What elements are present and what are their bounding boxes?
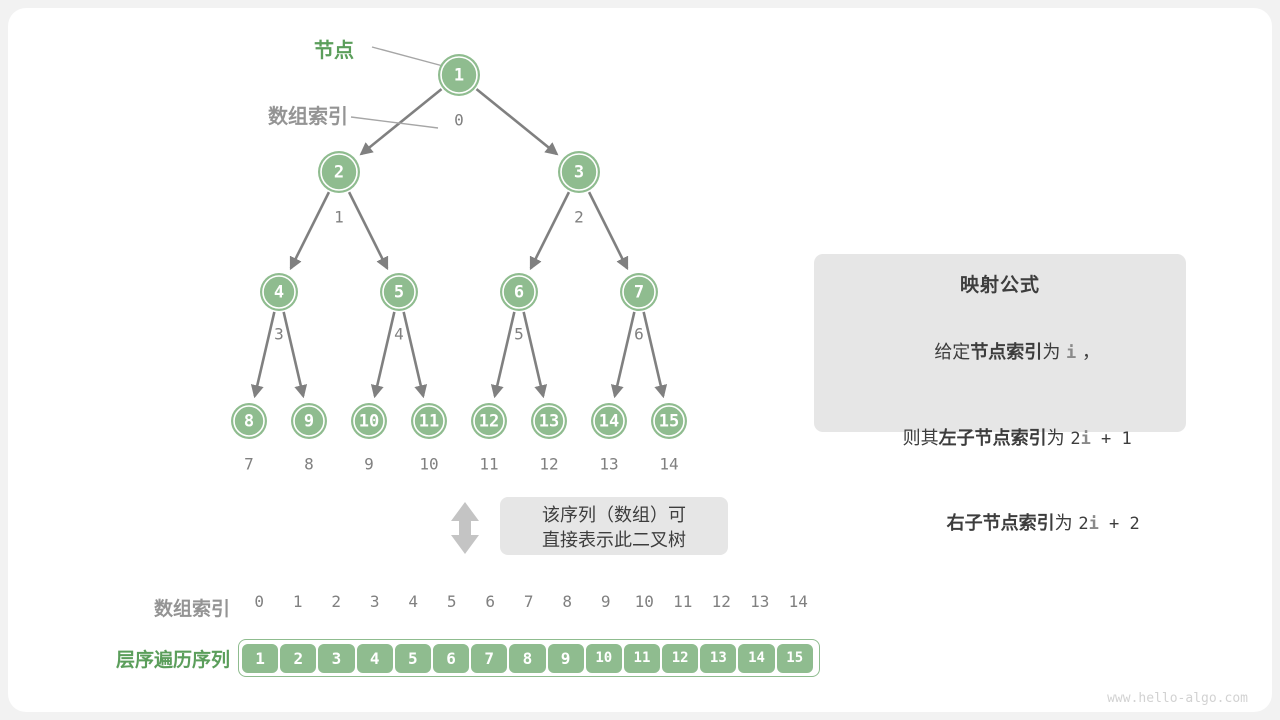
formula-l1-pre: 给定 [934, 342, 970, 363]
node-value: 4 [274, 283, 284, 303]
tree-edges [255, 89, 663, 396]
formula-l2-tail: + 1 [1091, 429, 1132, 449]
note-line-1: 该序列（数组）可 [500, 504, 728, 529]
node-value: 14 [599, 412, 619, 432]
array-index-cell: 3 [356, 592, 395, 611]
node-index-label: 1 [334, 208, 344, 227]
tree-node: 9 [291, 403, 327, 439]
array-index-cell: 0 [240, 592, 279, 611]
watermark: www.hello-algo.com [1107, 691, 1248, 706]
array-index-row-label: 数组索引 [70, 594, 230, 621]
mapping-formula-box: 映射公式 给定节点索引为 i ， 则其左子节点索引为 2i + 1 右子节点索引… [814, 254, 1186, 432]
node-index-label: 10 [419, 455, 438, 474]
formula-l2-pre: 则其 [903, 428, 939, 449]
tree-node: 3 [558, 151, 600, 193]
tree-node: 11 [411, 403, 447, 439]
node-index-label: 3 [274, 325, 284, 344]
formula-l1-post: ， [1076, 342, 1100, 363]
node-value: 3 [574, 163, 584, 183]
note-line-2: 直接表示此二叉树 [500, 529, 728, 554]
tree-node: 10 [351, 403, 387, 439]
tree-edge [255, 312, 275, 396]
array-index-cell: 2 [317, 592, 356, 611]
array-index-cell: 14 [779, 592, 818, 611]
formula-l1-var: i [1066, 343, 1076, 363]
node-index-label: 9 [364, 455, 374, 474]
node-value: 6 [514, 283, 524, 303]
node-index-label: 4 [394, 325, 404, 344]
formula-title: 映射公式 [814, 270, 1186, 297]
array-cell[interactable]: 9 [547, 643, 585, 674]
up-down-arrow-icon [446, 500, 484, 556]
array-cell[interactable]: 12 [661, 643, 699, 674]
node-index-label: 7 [244, 455, 254, 474]
array-cell[interactable]: 6 [432, 643, 470, 674]
node-value: 7 [634, 283, 644, 303]
array-index-cell: 5 [433, 592, 472, 611]
formula-l1-bold: 节点索引 [970, 342, 1042, 363]
array-index-cell: 1 [279, 592, 318, 611]
tree-edge [361, 89, 441, 154]
formula-l2-var: i [1081, 429, 1091, 449]
formula-l3-coef: 2 [1078, 514, 1088, 534]
array-cell[interactable]: 2 [279, 643, 317, 674]
tree-edge [644, 312, 664, 396]
level-order-row-label: 层序遍历序列 [70, 645, 230, 672]
tree-node: 4 [260, 273, 298, 311]
formula-line-1: 给定节点索引为 i ， [814, 311, 1186, 396]
formula-l3-bold: 右子节点索引 [947, 513, 1055, 534]
array-cell[interactable]: 11 [623, 643, 661, 674]
tree-edge [531, 192, 569, 268]
array-index-cell: 9 [587, 592, 626, 611]
tree-node: 8 [231, 403, 267, 439]
array-index-cell: 8 [548, 592, 587, 611]
formula-line-3: 右子节点索引为 2i + 2 [814, 482, 1186, 567]
tree-edge [615, 312, 635, 396]
array-index-cell: 6 [471, 592, 510, 611]
callout-leader-lines [351, 47, 443, 128]
tree-node: 5 [380, 273, 418, 311]
formula-l3-mid: 为 [1055, 513, 1079, 534]
tree-edge [476, 89, 556, 154]
node-value: 11 [419, 412, 439, 432]
formula-l2-bold: 左子节点索引 [939, 428, 1047, 449]
array-index-cell: 11 [664, 592, 703, 611]
array-cell[interactable]: 3 [317, 643, 355, 674]
tree-edge [404, 312, 424, 396]
node-value: 15 [659, 412, 679, 432]
node-value: 9 [304, 412, 314, 432]
tree-node: 2 [318, 151, 360, 193]
tree-node: 12 [471, 403, 507, 439]
node-index-label: 8 [304, 455, 314, 474]
tree-node: 1 [438, 54, 480, 96]
array-cell[interactable]: 4 [356, 643, 394, 674]
node-value: 13 [539, 412, 559, 432]
tree-node: 7 [620, 273, 658, 311]
node-index-label: 0 [454, 111, 464, 130]
formula-line-2: 则其左子节点索引为 2i + 1 [814, 396, 1186, 481]
node-value: 1 [454, 66, 464, 86]
sequence-note-box: 该序列（数组）可 直接表示此二叉树 [500, 497, 728, 555]
array-index-cell: 10 [625, 592, 664, 611]
array-index-row: 01234567891011121314 [240, 592, 818, 611]
tree-edge [349, 192, 387, 268]
node-value: 12 [479, 412, 499, 432]
formula-l2-mid: 为 [1047, 428, 1071, 449]
array-cell[interactable]: 14 [737, 643, 775, 674]
array-index-cell: 7 [510, 592, 549, 611]
array-cell[interactable]: 10 [585, 643, 623, 674]
formula-l2-coef: 2 [1070, 429, 1080, 449]
node-index-label: 5 [514, 325, 524, 344]
array-cell[interactable]: 1 [241, 643, 279, 674]
node-index-label: 6 [634, 325, 644, 344]
tree-edge [284, 312, 304, 396]
tree-node: 14 [591, 403, 627, 439]
node-index-label: 12 [539, 455, 558, 474]
array-cell[interactable]: 7 [470, 643, 508, 674]
formula-l3-tail: + 2 [1099, 514, 1140, 534]
callout-node-label: 节点 [314, 34, 354, 63]
node-index-label: 14 [659, 455, 678, 474]
tree-edge [589, 192, 627, 268]
array-index-cell: 12 [702, 592, 741, 611]
formula-l3-var: i [1089, 514, 1099, 534]
node-index-label: 11 [479, 455, 498, 474]
array-cell[interactable]: 15 [776, 643, 814, 674]
tree-edge [375, 312, 395, 396]
tree-node: 13 [531, 403, 567, 439]
tree-edge [524, 312, 544, 396]
callout-array-index-label: 数组索引 [268, 100, 348, 129]
diagram-canvas: 123456789101112131415 012345678910111213… [0, 0, 1280, 720]
level-order-array: 123456789101112131415 [238, 639, 820, 677]
formula-l1-mid: 为 [1042, 342, 1066, 363]
node-value: 2 [334, 163, 344, 183]
tree-node: 6 [500, 273, 538, 311]
node-value: 8 [244, 412, 254, 432]
tree-edge [291, 192, 329, 268]
tree-edge [495, 312, 515, 396]
array-index-cell: 4 [394, 592, 433, 611]
node-index-label: 13 [599, 455, 618, 474]
array-cell[interactable]: 8 [508, 643, 546, 674]
node-index-label: 2 [574, 208, 584, 227]
array-index-cell: 13 [741, 592, 780, 611]
node-value: 5 [394, 283, 404, 303]
tree-node: 15 [651, 403, 687, 439]
array-cell[interactable]: 13 [699, 643, 737, 674]
node-value: 10 [359, 412, 379, 432]
array-cell[interactable]: 5 [394, 643, 432, 674]
